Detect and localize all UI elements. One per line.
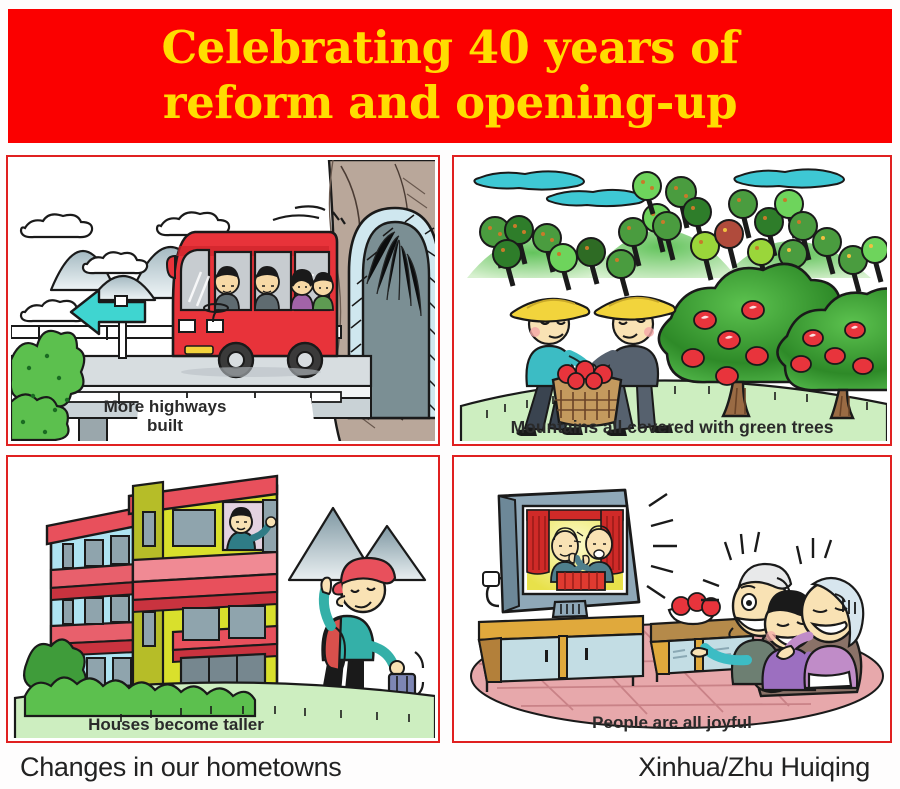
panel-joyful: People are all joyful — [452, 455, 892, 743]
panel-houses: Houses become taller — [6, 455, 440, 743]
houses-illustration — [11, 460, 435, 738]
panel-green-mountains-art: Mountains all covered with green trees — [457, 160, 887, 441]
footer-credit: Xinhua/Zhu Huiqing — [638, 752, 870, 783]
panel-highways: More highways built — [6, 155, 440, 446]
panel-highways-art: More highways built — [11, 160, 435, 441]
cartoon-poster: Celebrating 40 years of reform and openi… — [0, 0, 900, 789]
panel-caption-4: People are all joyful — [457, 713, 887, 732]
banner-title: Celebrating 40 years of reform and openi… — [161, 21, 738, 131]
footer-row: Changes in our hometowns Xinhua/Zhu Huiq… — [0, 752, 900, 789]
tour-bus — [167, 206, 345, 377]
panel-caption-3: Houses become taller — [11, 715, 341, 734]
panel-caption-1: More highways built — [15, 397, 315, 435]
panel-green-mountains: Mountains all covered with green trees — [452, 155, 892, 446]
panel-joyful-art: People are all joyful — [457, 460, 887, 738]
orchard-illustration — [457, 160, 887, 441]
panel-caption-2: Mountains all covered with green trees — [457, 418, 887, 438]
apple-basket — [553, 361, 621, 426]
panel-houses-art: Houses become taller — [11, 460, 435, 738]
family-tv-illustration — [457, 460, 887, 738]
title-banner: Celebrating 40 years of reform and openi… — [8, 9, 892, 143]
yellow-house — [129, 476, 277, 698]
footer-title: Changes in our hometowns — [20, 752, 342, 783]
